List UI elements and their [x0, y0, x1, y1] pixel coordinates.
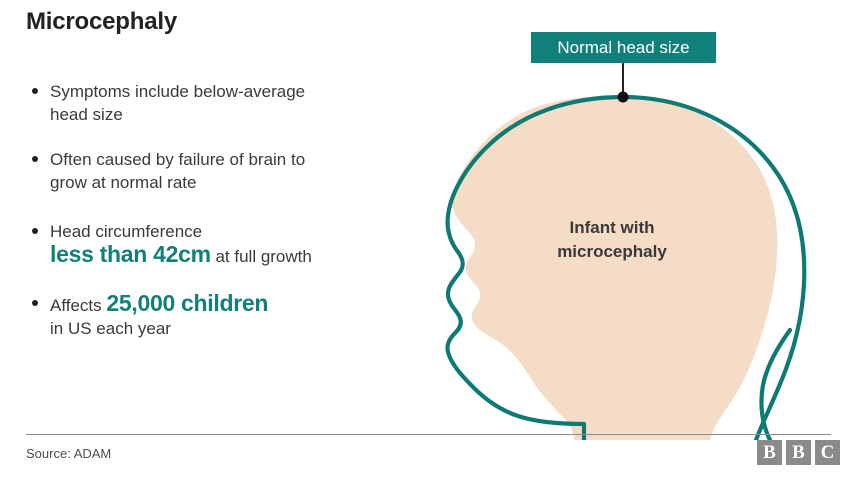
bbc-logo-block-2: B: [786, 440, 811, 465]
bullet-dot-icon: [32, 156, 38, 162]
bullet-dot-icon: [32, 228, 38, 234]
infant-head-label-line-1: Infant with: [512, 216, 712, 240]
microcephalic-head-shape: [452, 96, 777, 440]
bullet-list: Symptoms include below-average head size…: [28, 80, 418, 340]
bullet-2-line-2: grow at normal rate: [50, 171, 418, 194]
bbc-logo-block-1: B: [757, 440, 782, 465]
list-item: Affects 25,000 children in US each year: [28, 292, 418, 340]
page-title: Microcephaly: [26, 8, 177, 36]
bullet-3-line-1: Head circumference: [50, 220, 418, 243]
bullet-1-line-2: head size: [50, 103, 418, 126]
stat-head-circumference: less than 42cm: [50, 241, 211, 267]
infographic-root: Microcephaly Symptoms include below-aver…: [0, 0, 857, 482]
infant-head-label: Infant with microcephaly: [512, 216, 712, 264]
neck-back-outline: [761, 330, 790, 440]
stat-affected-children: 25,000 children: [106, 290, 268, 316]
footer-divider: [26, 434, 831, 435]
callout-anchor-dot: [618, 92, 629, 103]
bullet-4-line-2: in US each year: [50, 317, 418, 340]
bullet-3-suffix: at full growth: [211, 247, 312, 266]
list-item: Head circumference less than 42cm at ful…: [28, 220, 418, 268]
bullet-4-prefix: Affects: [50, 296, 106, 315]
bullet-2-line-1: Often caused by failure of brain to: [50, 148, 418, 171]
list-item: Symptoms include below-average head size: [28, 80, 418, 126]
list-item: Often caused by failure of brain to grow…: [28, 148, 418, 194]
bullet-dot-icon: [32, 88, 38, 94]
bullet-1-line-1: Symptoms include below-average: [50, 80, 418, 103]
normal-head-size-callout: Normal head size: [531, 32, 716, 63]
callout-label-text: Normal head size: [557, 39, 689, 56]
bbc-logo-block-3: C: [815, 440, 840, 465]
bullet-4-line-1: Affects 25,000 children: [50, 292, 418, 317]
bullet-dot-icon: [32, 300, 38, 306]
bbc-logo: B B C: [757, 440, 840, 465]
source-attribution: Source: ADAM: [26, 446, 111, 461]
bullet-3-line-2: less than 42cm at full growth: [50, 243, 418, 268]
infant-head-label-line-2: microcephaly: [512, 240, 712, 264]
